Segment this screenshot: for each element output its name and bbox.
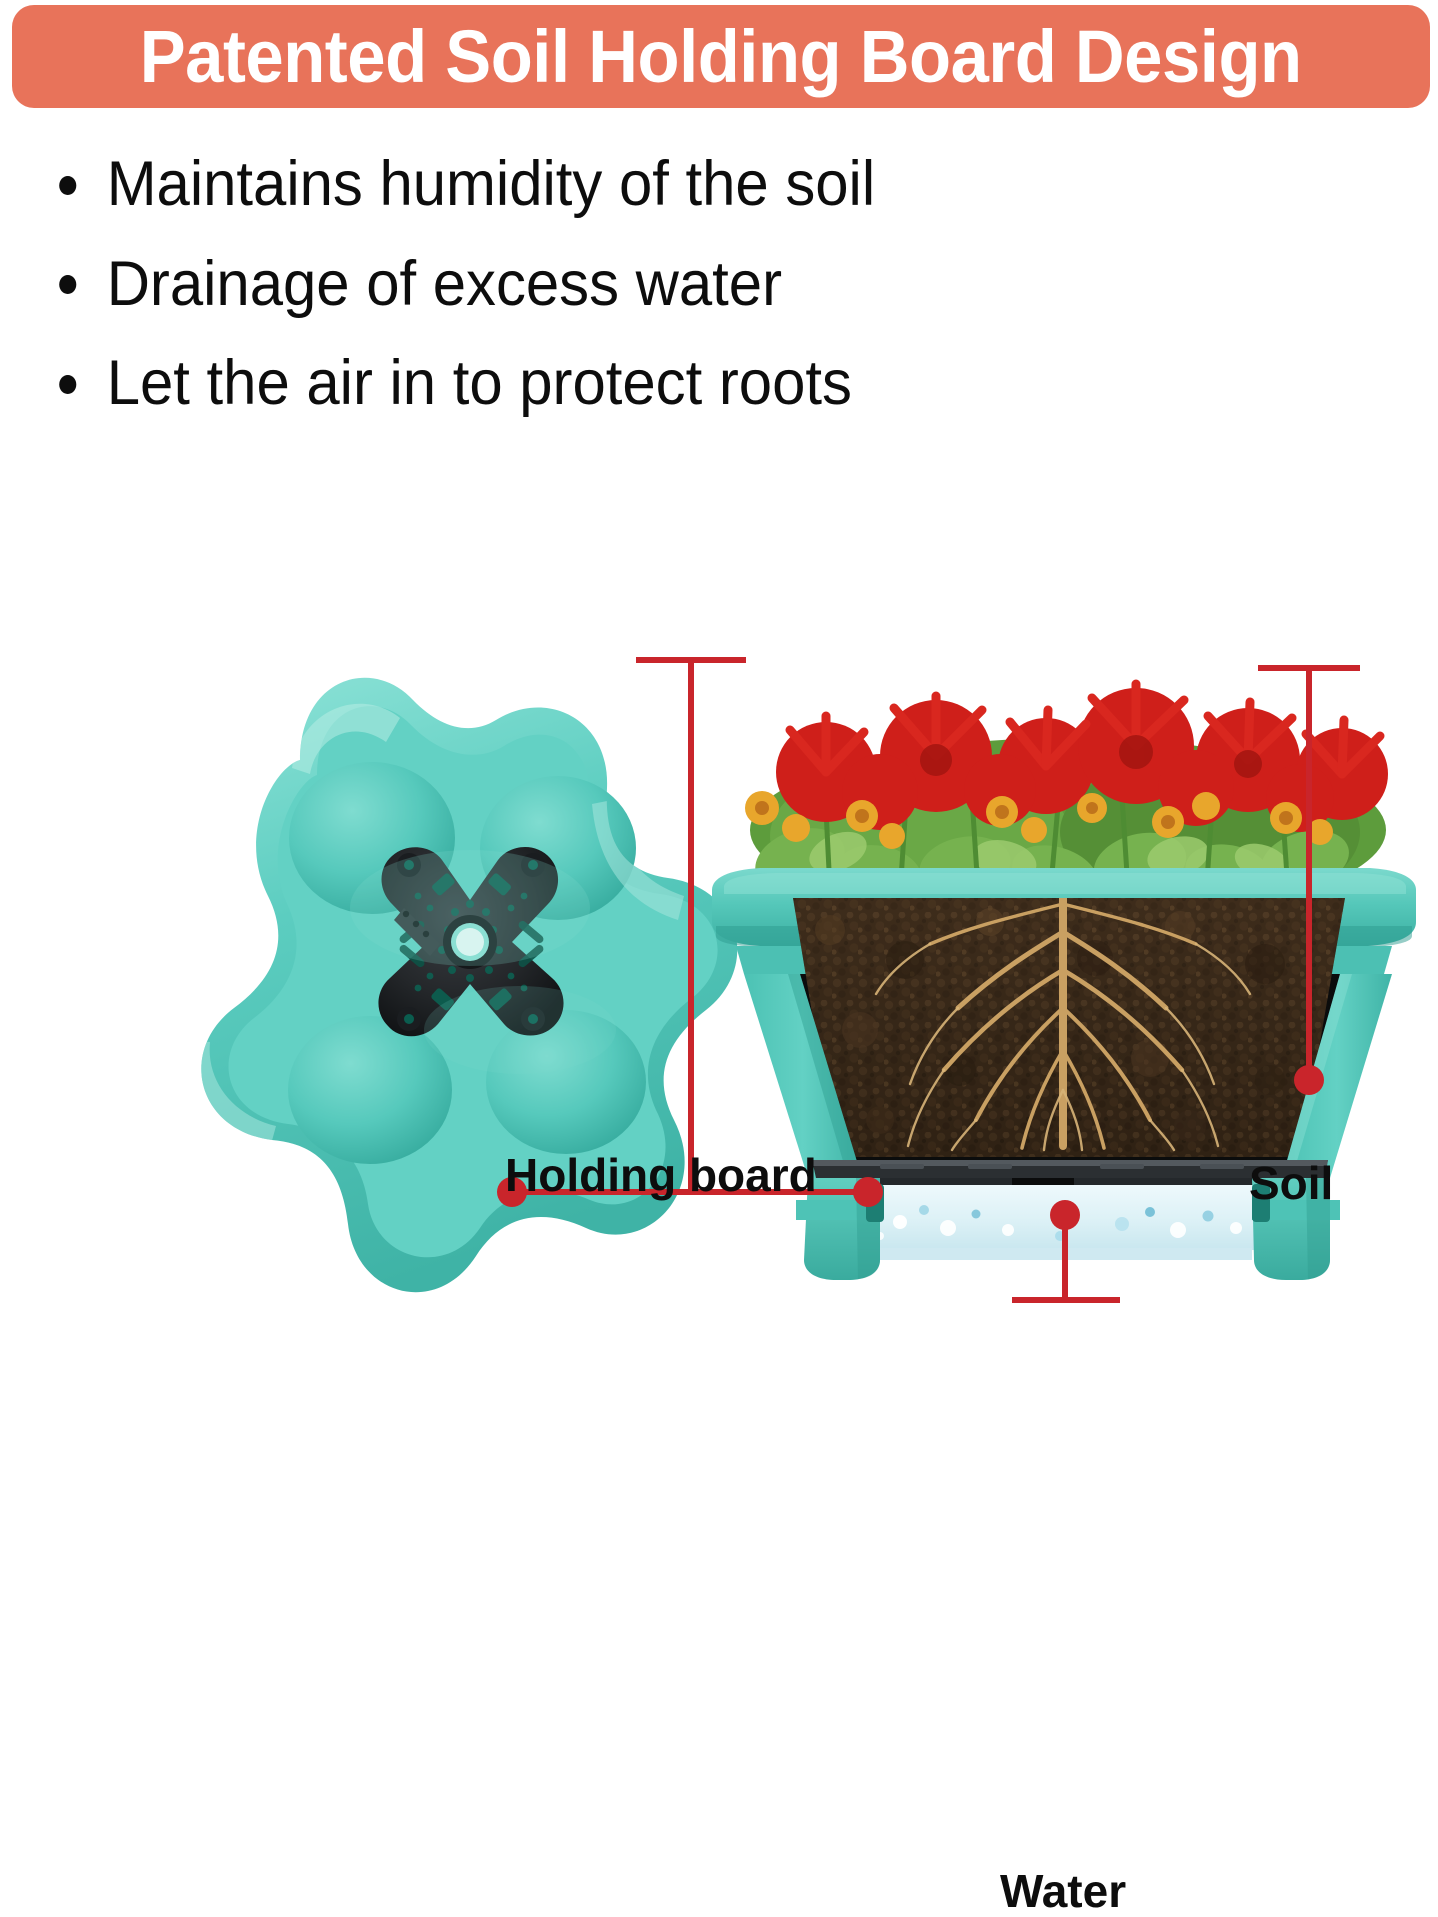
benefit-item-drainage: Drainage of excess water [44,252,1089,318]
benefit-label: Let the air in to protect roots [107,348,852,418]
callout-label-water: Water [1000,1868,1126,1914]
benefit-item-aeration: Let the air in to protect roots [44,351,1089,417]
product-diagram: Holding board Soil Water [0,560,1438,1369]
bullet-dot-icon [59,176,76,195]
callout-label-holding-board: Holding board [505,1152,817,1198]
bullet-dot-icon [59,275,76,294]
header-banner: Patented Soil Holding Board Design [12,5,1430,108]
board-boss-hole [404,1014,414,1024]
page-title: Patented Soil Holding Board Design [140,20,1302,94]
benefit-item-humidity: Maintains humidity of the soil [44,152,1089,218]
soil-block [780,890,1360,1170]
benefit-label: Maintains humidity of the soil [107,149,875,219]
callout-dot-soil [1294,1065,1324,1095]
benefits-list: Maintains humidity of the soil Drainage … [44,152,1144,451]
callout-dot-right-board [853,1177,883,1207]
diagram-illustration [0,560,1438,1369]
callout-label-soil: Soil [1249,1160,1333,1206]
pot-rim-highlight [724,873,1406,894]
benefit-label: Drainage of excess water [107,249,782,319]
bullet-dot-icon [59,375,76,394]
